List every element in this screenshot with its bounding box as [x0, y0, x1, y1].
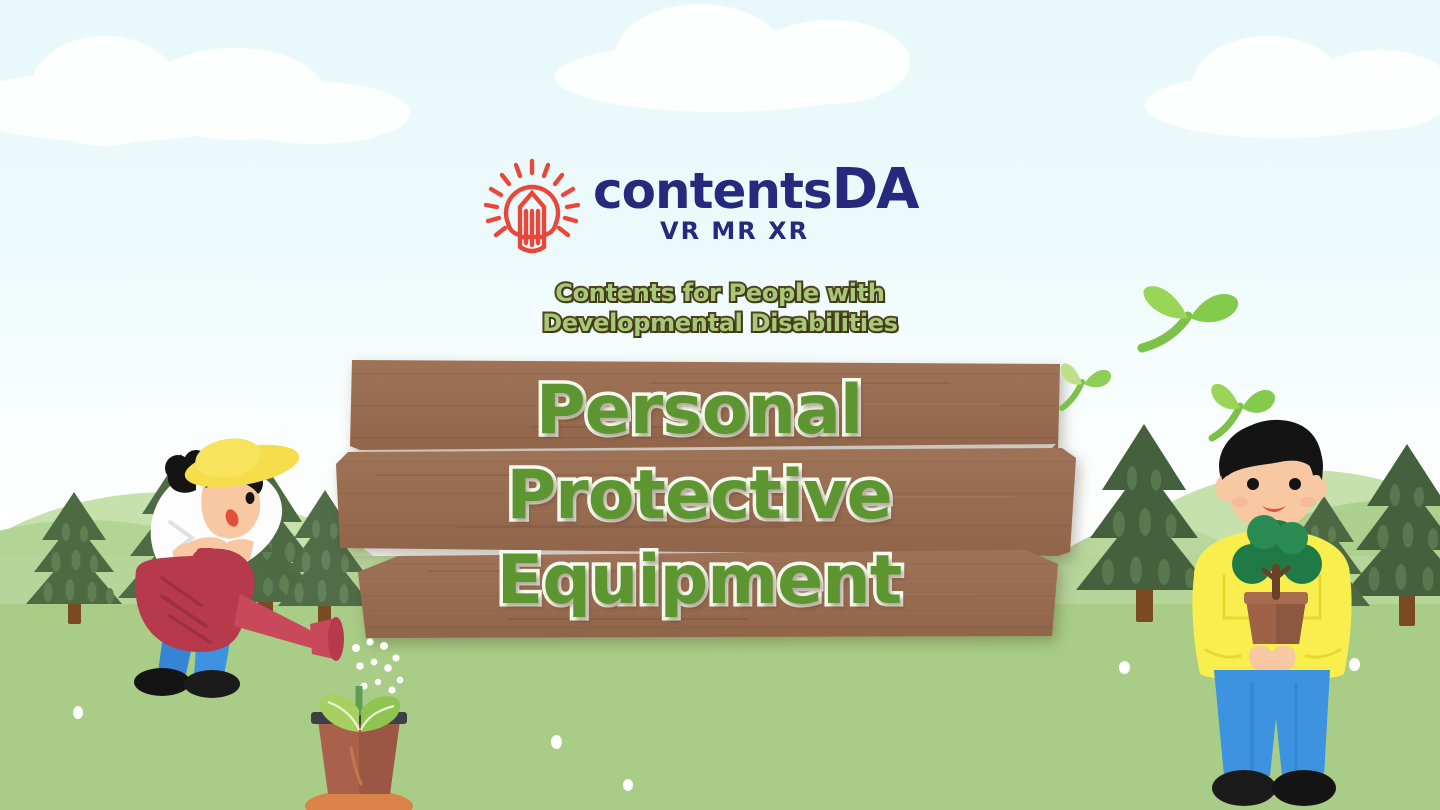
ground-dot-2	[551, 735, 562, 749]
person-holding-potted-tree-character	[1158, 418, 1388, 810]
logo-tagline: VR MR XR	[660, 217, 809, 245]
title-slide: Personal Protective Equipment	[0, 0, 1440, 810]
title-line-1: Personal	[336, 368, 1062, 453]
sign-title: Personal Protective Equipment	[336, 368, 1062, 623]
subtitle-line-2: Developmental Disabilities	[0, 308, 1440, 338]
seedling-leaves	[300, 680, 420, 736]
subtitle: Contents for People with Developmental D…	[0, 278, 1440, 338]
logo-brand-accent: DA	[832, 157, 918, 222]
logo-wordmark: contentsDA	[593, 157, 917, 222]
logo-brand-primary: contents	[593, 162, 832, 220]
subtitle-line-1: Contents for People with	[0, 278, 1440, 308]
floating-sprout-small-icon	[1056, 358, 1118, 414]
ground-dot-4	[1119, 661, 1130, 674]
title-line-3: Equipment	[336, 538, 1062, 623]
title-line-2: Protective	[336, 453, 1062, 538]
ground-dot-3	[623, 779, 633, 791]
lightbulb-pencil-icon	[478, 157, 586, 261]
contentsda-logo: contentsDA VR MR XR	[478, 155, 898, 265]
